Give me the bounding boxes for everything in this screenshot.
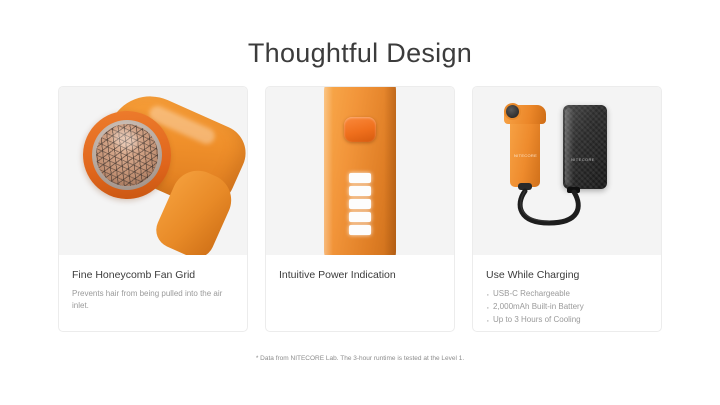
- feature-cards-row: Fine Honeycomb Fan Grid Prevents hair fr…: [58, 86, 662, 332]
- list-item: USB-C Rechargeable: [486, 288, 648, 301]
- feature-card-use-while-charging[interactable]: NITECORE NITECORE Use While Charging: [472, 86, 662, 332]
- hair-dryer-fan-grid-image: [59, 87, 247, 255]
- list-item: Up to 3 Hours of Cooling: [486, 314, 648, 327]
- led-segment: [349, 173, 371, 183]
- power-bank-brand-label: NITECORE: [571, 157, 595, 162]
- led-segment: [349, 225, 371, 235]
- hair-dryer-illustration: [77, 101, 247, 251]
- feature-card-heading: Fine Honeycomb Fan Grid: [72, 269, 234, 281]
- hair-dryer-power-indicator-image: [266, 87, 454, 255]
- honeycomb-grid-icon: [86, 114, 168, 196]
- feature-card-power-indication[interactable]: Intuitive Power Indication: [265, 86, 455, 332]
- dryer-handle-left-highlight: [324, 87, 333, 255]
- charging-illustration: NITECORE NITECORE: [473, 87, 661, 255]
- feature-card-fan-grid[interactable]: Fine Honeycomb Fan Grid Prevents hair fr…: [58, 86, 248, 332]
- feature-card-description: Prevents hair from being pulled into the…: [72, 288, 234, 313]
- feature-card-heading: Use While Charging: [486, 269, 648, 281]
- dryer-brand-label: NITECORE: [514, 153, 537, 158]
- feature-bullet-list: USB-C Rechargeable 2,000mAh Built-in Bat…: [486, 288, 648, 327]
- power-bank-highlight: [565, 108, 574, 186]
- power-button-icon: [344, 117, 376, 142]
- led-segment: [349, 212, 371, 222]
- feature-card-body: Intuitive Power Indication: [266, 255, 454, 331]
- mini-dryer-inlet-icon: [504, 103, 521, 120]
- feature-card-body: Use While Charging USB-C Rechargeable 2,…: [473, 255, 661, 331]
- usb-c-cable-icon: [513, 187, 587, 229]
- led-segment: [349, 186, 371, 196]
- grid-highlight: [110, 125, 141, 152]
- hair-dryer-handle-illustration: [266, 87, 454, 255]
- product-feature-page: Thoughtful Design: [0, 0, 720, 405]
- footnote-text: * Data from NITECORE Lab. The 3-hour run…: [0, 355, 720, 362]
- feature-card-heading: Intuitive Power Indication: [279, 269, 441, 281]
- list-item: 2,000mAh Built-in Battery: [486, 301, 648, 314]
- dryer-handle-right-shadow: [384, 87, 396, 255]
- page-title: Thoughtful Design: [0, 38, 720, 69]
- feature-card-body: Fine Honeycomb Fan Grid Prevents hair fr…: [59, 255, 247, 331]
- led-segment: [349, 199, 371, 209]
- power-level-indicator: [349, 173, 371, 235]
- hair-dryer-with-power-bank-image: NITECORE NITECORE: [473, 87, 661, 255]
- power-bank-body: NITECORE: [563, 105, 607, 189]
